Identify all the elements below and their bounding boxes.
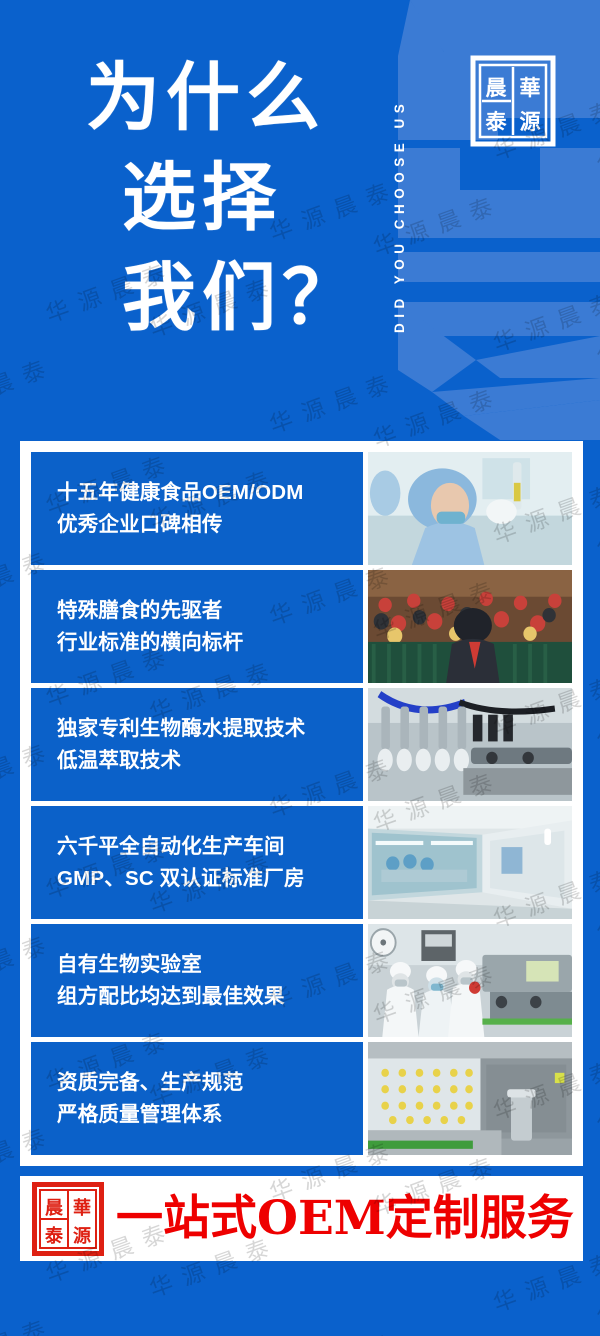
feature-card-2-line-1: 特殊膳食的先驱者 [57, 595, 363, 627]
feature-card-5[interactable]: 自有生物实验室 组方配比均达到最佳效果 [31, 924, 363, 1037]
feature-card-4-line-1: 六千平全自动化生产车间 [57, 831, 363, 863]
feature-photo-6 [368, 1042, 572, 1155]
feature-card-6-line-1: 资质完备、生产规范 [57, 1067, 363, 1099]
feature-rows: 十五年健康食品OEM/ODM 优秀企业口碑相传 [31, 452, 572, 1155]
feature-card-5-line-2: 组方配比均达到最佳效果 [57, 981, 363, 1013]
title-line-3: 我们？ [122, 248, 362, 348]
feature-row-6: 资质完备、生产规范 严格质量管理体系 [31, 1042, 572, 1155]
page-title: 为什么 选择 我们？ [86, 48, 362, 348]
company-seal-red: 晨 泰 華 源 [32, 1182, 104, 1256]
feature-photo-5 [368, 924, 572, 1037]
svg-text:華: 華 [73, 1197, 91, 1219]
title-line-1: 为什么 [86, 48, 362, 148]
feature-card-4[interactable]: 六千平全自动化生产车间 GMP、SC 双认证标准厂房 [31, 806, 363, 919]
feature-card-5-line-1: 自有生物实验室 [57, 949, 363, 981]
feature-card-3-line-1: 独家专利生物酶水提取技术 [57, 713, 363, 745]
svg-text:晨: 晨 [486, 75, 508, 100]
feature-row-5: 自有生物实验室 组方配比均达到最佳效果 [31, 924, 572, 1037]
feature-card-2-line-2: 行业标准的横向标杆 [57, 627, 363, 659]
feature-card-1-line-2: 优秀企业口碑相传 [57, 509, 363, 541]
svg-text:泰: 泰 [44, 1225, 64, 1247]
feature-card-6-line-2: 严格质量管理体系 [57, 1099, 363, 1131]
vertical-english-caption: DID YOU CHOOSE US [392, 28, 418, 404]
feature-card-3[interactable]: 独家专利生物酶水提取技术 低温萃取技术 [31, 688, 363, 801]
svg-text:源: 源 [520, 109, 541, 134]
feature-card-4-line-2: GMP、SC 双认证标准厂房 [57, 863, 363, 895]
feature-card-3-line-2: 低温萃取技术 [57, 745, 363, 777]
features-panel: 十五年健康食品OEM/ODM 优秀企业口碑相传 [20, 441, 583, 1166]
svg-text:晨: 晨 [45, 1198, 64, 1219]
feature-photo-4 [368, 806, 572, 919]
feature-card-6[interactable]: 资质完备、生产规范 严格质量管理体系 [31, 1042, 363, 1155]
footer-slogan: 一站式OEM定制服务 [116, 1193, 574, 1245]
feature-row-2: 特殊膳食的先驱者 行业标准的横向标杆 [31, 570, 572, 683]
feature-row-1: 十五年健康食品OEM/ODM 优秀企业口碑相传 [31, 452, 572, 565]
svg-text:源: 源 [73, 1225, 91, 1247]
feature-row-3: 独家专利生物酶水提取技术 低温萃取技术 [31, 688, 572, 801]
feature-photo-1 [368, 452, 572, 565]
feature-card-1-line-1: 十五年健康食品OEM/ODM [57, 477, 363, 509]
header: 为什么 选择 我们？ DID YOU CHOOSE US 晨 泰 華 源 [0, 0, 600, 440]
title-line-2: 选择 [122, 148, 362, 248]
feature-photo-2 [368, 570, 572, 683]
feature-card-1[interactable]: 十五年健康食品OEM/ODM 优秀企业口碑相传 [31, 452, 363, 565]
feature-photo-3 [368, 688, 572, 801]
feature-card-2[interactable]: 特殊膳食的先驱者 行业标准的横向标杆 [31, 570, 363, 683]
company-seal-white: 晨 泰 華 源 [470, 55, 556, 147]
svg-text:泰: 泰 [485, 109, 508, 134]
footer-banner[interactable]: 晨 泰 華 源 一站式OEM定制服务 [20, 1176, 583, 1261]
feature-row-4: 六千平全自动化生产车间 GMP、SC 双认证标准厂房 [31, 806, 572, 919]
svg-text:華: 華 [520, 75, 541, 100]
poster-root: 为什么 选择 我们？ DID YOU CHOOSE US 晨 泰 華 源 [0, 0, 600, 1336]
